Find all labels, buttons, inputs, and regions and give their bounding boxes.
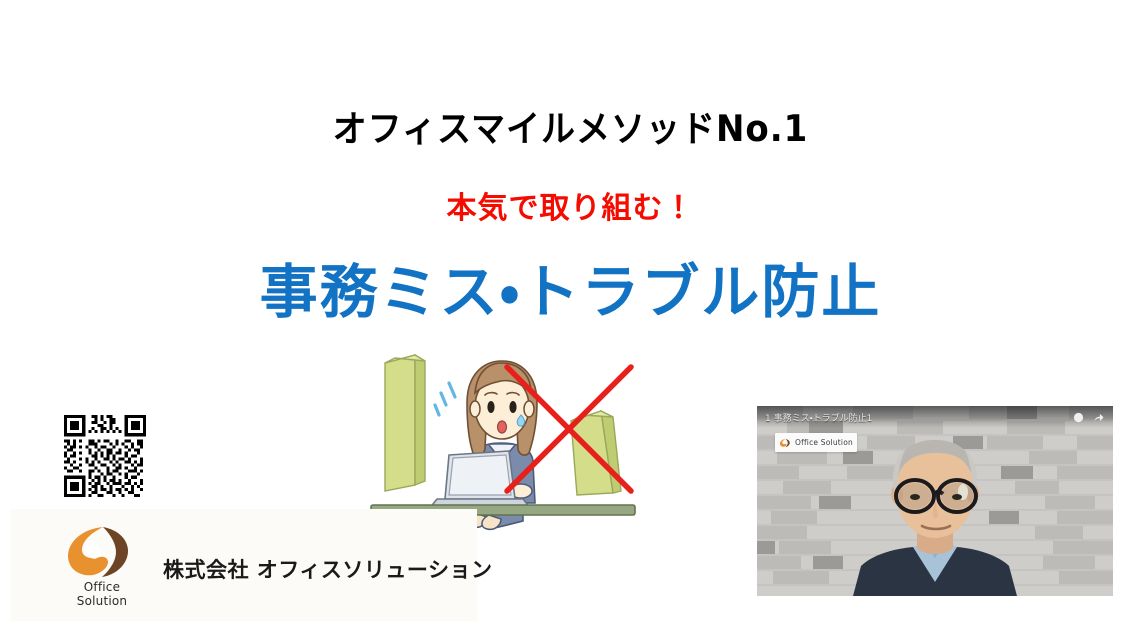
clock-icon[interactable] (1073, 412, 1084, 423)
office-solution-swoosh-icon (62, 524, 142, 580)
video-overlay-title: 1 事務ミス・トラブル防止1 (765, 411, 872, 424)
video-player[interactable]: 1 事務ミス・トラブル防止1 Office (757, 406, 1113, 596)
logo-caption: Office Solution (62, 580, 142, 608)
qr-code-icon[interactable] (61, 412, 149, 500)
worried-office-worker-illustration (363, 345, 643, 535)
page-title: 事務ミス・トラブル防止 (0, 245, 1141, 329)
office-solution-swoosh-icon (779, 437, 792, 449)
video-watermark-badge: Office Solution (775, 433, 857, 452)
office-solution-logo: Office Solution (62, 524, 142, 602)
share-icon[interactable] (1093, 412, 1105, 423)
slide-canvas: オフィスマイルメソッドNo.1 本気で取り組む！ 事務ミス・トラブル防止 (0, 0, 1141, 641)
video-watermark-text: Office Solution (795, 438, 853, 447)
series-label: オフィスマイルメソッドNo.1 (0, 100, 1141, 152)
subtitle-red: 本気で取り組む！ (0, 183, 1141, 227)
company-name: 株式会社 オフィスソリューション (163, 554, 492, 584)
video-overlay-topbar: 1 事務ミス・トラブル防止1 (757, 406, 1113, 428)
